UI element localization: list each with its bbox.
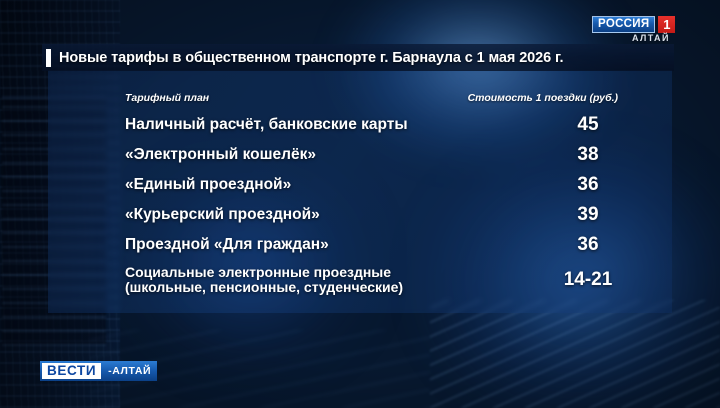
table-row: «Единый проездной» 36: [48, 170, 672, 200]
table-row: Социальные электронные проездные (школьн…: [48, 260, 672, 300]
cell-plan-price: 45: [533, 114, 643, 136]
cell-plan-price: 36: [533, 234, 643, 256]
table-row: Наличный расчёт, банковские карты 45: [48, 110, 672, 140]
tariff-table: Тарифный план Стоимость 1 поездки (руб.)…: [48, 78, 672, 300]
cell-plan-price: 39: [533, 204, 643, 226]
headline-bar: Новые тарифы в общественном транспорте г…: [42, 44, 674, 71]
channel-logo-number: 1: [658, 16, 675, 33]
broadcast-screen: Новые тарифы в общественном транспорте г…: [0, 0, 720, 408]
column-header-price: Стоимость 1 поездки (руб.): [468, 92, 618, 104]
program-logo-word: ВЕСТИ: [47, 364, 96, 378]
cell-plan-name: «Единый проездной»: [125, 177, 291, 193]
channel-logo: РОССИЯ 1: [592, 16, 675, 33]
cell-plan-price: 36: [533, 174, 643, 196]
channel-logo-word: РОССИЯ: [592, 16, 655, 33]
table-row: «Электронный кошелёк» 38: [48, 140, 672, 170]
headline-text: Новые тарифы в общественном транспорте г…: [59, 50, 563, 66]
program-logo-region: -АЛТАЙ: [103, 361, 151, 381]
headline-marker-icon: [46, 49, 51, 67]
cell-plan-price: 38: [533, 144, 643, 166]
cell-plan-name: «Курьерский проездной»: [125, 207, 320, 223]
cell-plan-name: Наличный расчёт, банковские карты: [125, 117, 408, 133]
cell-plan-name: «Электронный кошелёк»: [125, 147, 316, 163]
cell-plan-name: Социальные электронные проездные (школьн…: [125, 265, 403, 294]
table-header-row: Тарифный план Стоимость 1 поездки (руб.): [48, 78, 672, 110]
table-row: Проездной «Для граждан» 36: [48, 230, 672, 260]
program-logo-box: ВЕСТИ: [42, 363, 101, 379]
cell-plan-name: Проездной «Для граждан»: [125, 237, 329, 253]
program-logo: ВЕСТИ -АЛТАЙ: [40, 361, 157, 381]
column-header-plan: Тарифный план: [125, 92, 209, 104]
table-row: «Курьерский проездной» 39: [48, 200, 672, 230]
cell-plan-price: 14-21: [533, 269, 643, 291]
channel-logo-region: АЛТАЙ: [632, 33, 670, 43]
